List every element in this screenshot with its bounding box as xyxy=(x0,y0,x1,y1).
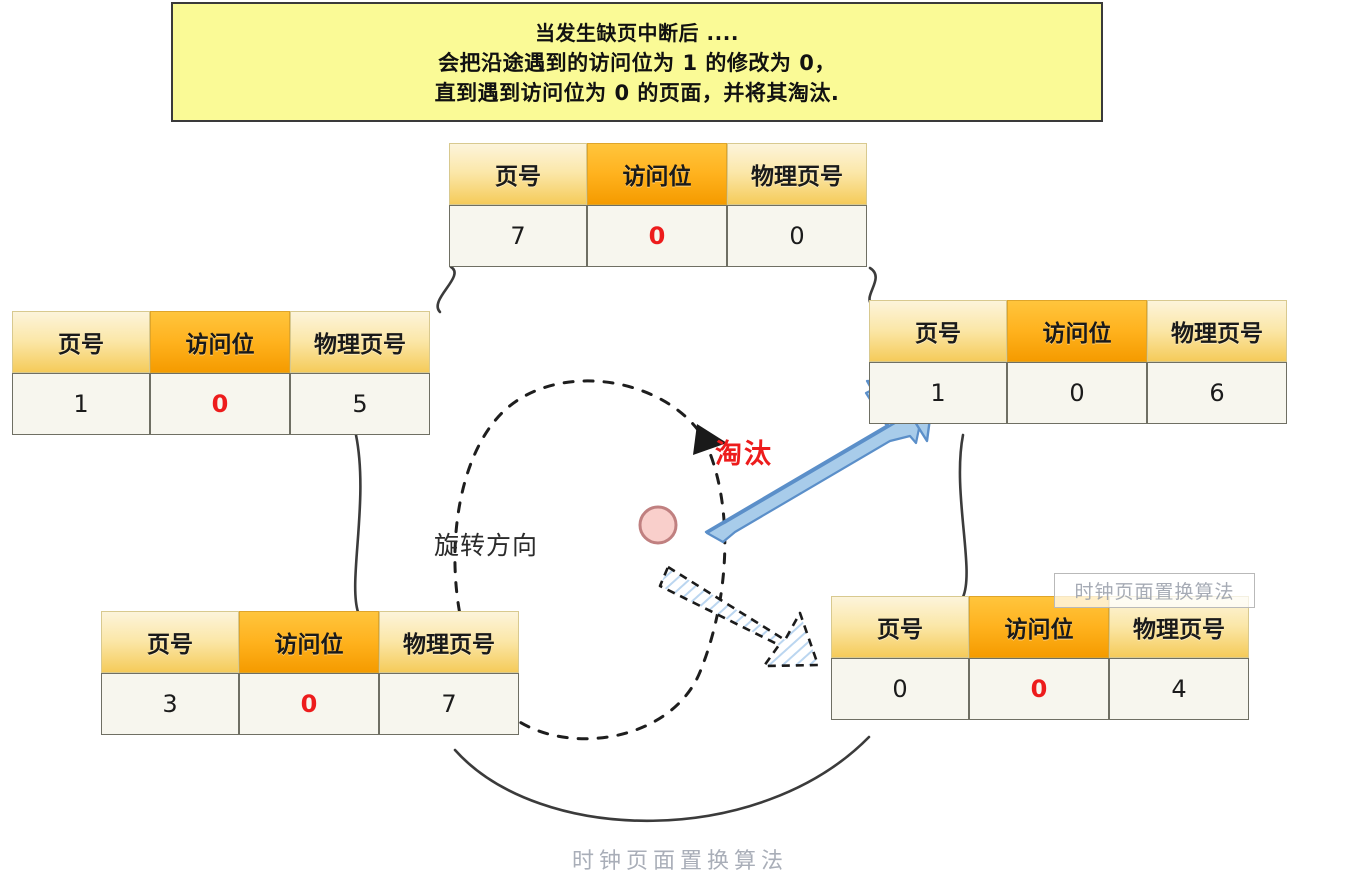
value-access-bit: 0 xyxy=(587,205,727,267)
hatched-arrow xyxy=(660,567,818,666)
callout-line-1: 当发生缺页中断后 .... xyxy=(535,18,739,48)
header-access-bit: 访问位 xyxy=(150,311,290,373)
header-access-bit: 访问位 xyxy=(587,143,727,205)
evict-label: 淘汰 xyxy=(715,432,773,471)
value-access-bit: 0 xyxy=(150,373,290,435)
value-access-bit: 0 xyxy=(969,658,1109,720)
callout-line-3: 直到遇到访问位为 0 的页面，并将其淘汰. xyxy=(435,78,840,108)
page-table-bottom-right: 页号 访问位 物理页号 0 0 4 xyxy=(831,596,1249,720)
watermark-text: 时钟页面置换算法 xyxy=(1074,577,1234,604)
connector-bottomleft-to-bottomright xyxy=(455,737,869,821)
header-page-no: 页号 xyxy=(449,143,587,205)
watermark-tooltip: 时钟页面置换算法 xyxy=(1054,573,1255,608)
value-page-no: 1 xyxy=(12,373,150,435)
clock-center-dot xyxy=(640,507,676,543)
table-body-row: 1 0 5 xyxy=(12,373,430,435)
header-frame-no: 物理页号 xyxy=(290,311,430,373)
table-header-row: 页号 访问位 物理页号 xyxy=(101,611,519,673)
value-page-no: 0 xyxy=(831,658,969,720)
header-page-no: 页号 xyxy=(869,300,1007,362)
value-frame-no: 7 xyxy=(379,673,519,735)
value-page-no: 3 xyxy=(101,673,239,735)
connector-overlay xyxy=(0,0,1360,882)
page-table-left: 页号 访问位 物理页号 1 0 5 xyxy=(12,311,430,435)
table-body-row: 0 0 4 xyxy=(831,658,1249,720)
rotation-direction-label: 旋转方向 xyxy=(434,526,538,562)
connector-right-to-bottomright xyxy=(960,435,967,597)
table-body-row: 7 0 0 xyxy=(449,205,867,267)
explanation-callout: 当发生缺页中断后 .... 会把沿途遇到的访问位为 1 的修改为 0， 直到遇到… xyxy=(171,2,1103,122)
value-frame-no: 4 xyxy=(1109,658,1249,720)
value-access-bit: 0 xyxy=(1007,362,1147,424)
value-frame-no: 5 xyxy=(290,373,430,435)
connector-left-to-bottomleft xyxy=(355,435,360,612)
header-access-bit: 访问位 xyxy=(1007,300,1147,362)
table-header-row: 页号 访问位 物理页号 xyxy=(869,300,1287,362)
page-table-top: 页号 访问位 物理页号 7 0 0 xyxy=(449,143,867,267)
table-header-row: 页号 访问位 物理页号 xyxy=(449,143,867,205)
figure-caption: 时钟页面置换算法 xyxy=(0,843,1360,875)
header-frame-no: 物理页号 xyxy=(727,143,867,205)
header-access-bit: 访问位 xyxy=(239,611,379,673)
value-frame-no: 6 xyxy=(1147,362,1287,424)
value-frame-no: 0 xyxy=(727,205,867,267)
table-body-row: 3 0 7 xyxy=(101,673,519,735)
value-page-no: 7 xyxy=(449,205,587,267)
diagram-canvas: 当发生缺页中断后 .... 会把沿途遇到的访问位为 1 的修改为 0， 直到遇到… xyxy=(0,0,1360,882)
table-header-row: 页号 访问位 物理页号 xyxy=(12,311,430,373)
table-body-row: 1 0 6 xyxy=(869,362,1287,424)
header-page-no: 页号 xyxy=(101,611,239,673)
header-page-no: 页号 xyxy=(12,311,150,373)
connector-left-to-top xyxy=(438,267,455,312)
header-page-no: 页号 xyxy=(831,596,969,658)
value-page-no: 1 xyxy=(869,362,1007,424)
header-frame-no: 物理页号 xyxy=(379,611,519,673)
page-table-bottom-left: 页号 访问位 物理页号 3 0 7 xyxy=(101,611,519,735)
header-frame-no: 物理页号 xyxy=(1147,300,1287,362)
page-table-right: 页号 访问位 物理页号 1 0 6 xyxy=(869,300,1287,424)
callout-line-2: 会把沿途遇到的访问位为 1 的修改为 0， xyxy=(438,48,836,78)
value-access-bit: 0 xyxy=(239,673,379,735)
